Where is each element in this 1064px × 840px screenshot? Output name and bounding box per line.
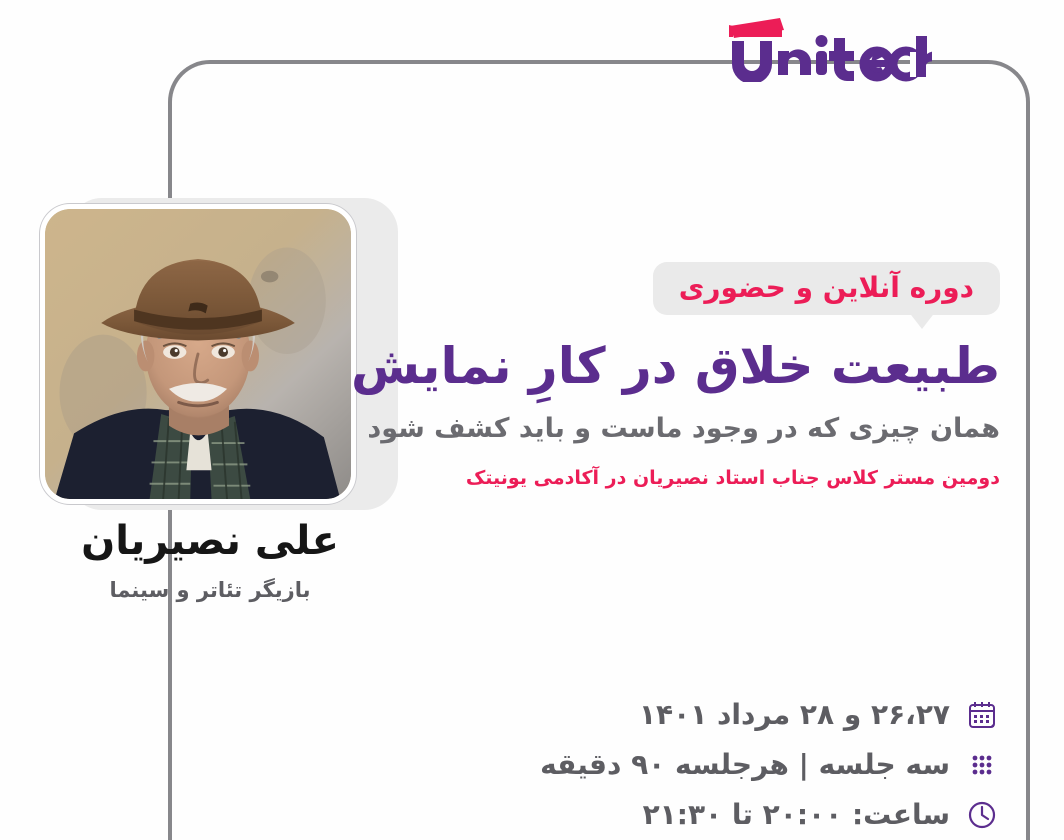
clock-icon xyxy=(964,797,1000,833)
speaker-portrait-block xyxy=(40,190,380,510)
speaker-photo-svg xyxy=(45,209,351,499)
calendar-icon xyxy=(964,697,1000,733)
course-info-block: ۲۶،۲۷ و ۲۸ مرداد ۱۴۰۱ سه جلسه | هرجلسه ۹… xyxy=(380,690,1000,840)
info-row-time: ساعت: ۲۰:۰۰ تا ۲۱:۳۰ xyxy=(380,790,1000,840)
course-mode-badge-row: دوره آنلاین و حضوری xyxy=(380,262,1000,318)
poster-canvas: علی نصیریان بازیگر تئاتر و سینما دوره آن… xyxy=(0,0,1064,840)
page-title: طبیعت خلاق در کارِ نمایش xyxy=(380,336,1000,397)
info-text-time: ساعت: ۲۰:۰۰ تا ۲۱:۳۰ xyxy=(643,801,950,829)
speaker-name: علی نصیریان xyxy=(0,518,420,564)
badge-tail xyxy=(908,311,936,329)
info-row-date: ۲۶،۲۷ و ۲۸ مرداد ۱۴۰۱ xyxy=(380,690,1000,740)
graduation-cap-icon xyxy=(729,18,784,38)
portrait-frame xyxy=(40,204,356,504)
speaker-photo xyxy=(45,209,351,499)
grid-dots-icon xyxy=(964,747,1000,783)
content-column: دوره آنلاین و حضوری طبیعت خلاق در کارِ ن… xyxy=(380,262,1000,491)
speaker-role: بازیگر تئاتر و سینما xyxy=(0,578,420,602)
info-text-date: ۲۶،۲۷ و ۲۸ مرداد ۱۴۰۱ xyxy=(639,701,950,729)
unitech-logo[interactable] xyxy=(722,8,932,82)
unitech-logo-svg xyxy=(722,8,932,82)
info-row-sessions: سه جلسه | هرجلسه ۹۰ دقیقه xyxy=(380,740,1000,790)
info-text-sessions: سه جلسه | هرجلسه ۹۰ دقیقه xyxy=(540,751,950,779)
page-subtitle: همان چیزی که در وجود ماست و باید کشف شود xyxy=(380,411,1000,446)
course-mode-badge: دوره آنلاین و حضوری xyxy=(653,262,1000,315)
page-tagline: دومین مستر کلاس جناب استاد نصیریان در آک… xyxy=(380,466,1000,491)
unitech-wordmark xyxy=(732,35,932,82)
